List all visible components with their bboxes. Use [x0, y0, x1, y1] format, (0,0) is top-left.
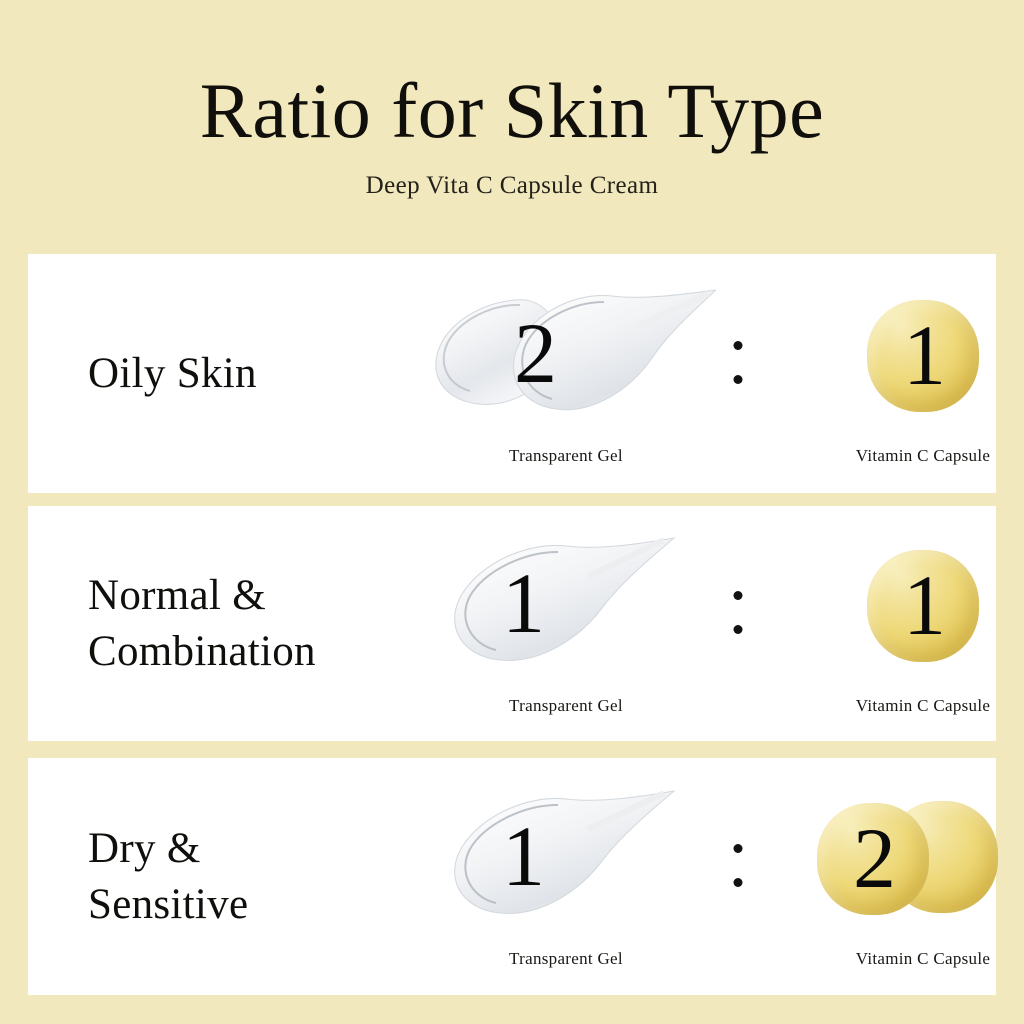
- gel-visual: 1: [416, 785, 716, 937]
- capsule-caption: Vitamin C Capsule: [856, 446, 990, 466]
- gel-side: 1 Transparent Gel: [416, 785, 716, 969]
- capsule-group-single: 1: [798, 532, 1024, 684]
- gel-ratio-value: 1: [502, 560, 545, 646]
- colon-dot-bottom: [734, 878, 743, 887]
- ratio-separator: [716, 285, 760, 437]
- capsule-side: 2 Vitamin C Capsule: [798, 785, 1024, 969]
- capsule-ratio-value: 2: [853, 815, 896, 901]
- gel-swatch-single: 1: [416, 532, 716, 684]
- colon-dot-bottom: [734, 375, 743, 384]
- capsule-group-single: 1: [798, 282, 1024, 434]
- ratio-row-dry-sensitive: Dry & Sensitive: [28, 758, 996, 995]
- colon-dot-bottom: [734, 625, 743, 634]
- gel-ratio-value: 1: [502, 813, 545, 899]
- gel-swatch-icon: [416, 785, 716, 937]
- ratio-group: 1 Transparent Gel 1 Vitamin C Capsule: [388, 506, 1024, 741]
- gel-ratio-value: 2: [514, 310, 557, 396]
- page-title: Ratio for Skin Type: [0, 72, 1024, 150]
- gel-visual: 2: [416, 282, 716, 434]
- skin-type-label-line1: Normal &: [88, 568, 388, 624]
- capsule-ratio-value: 1: [903, 562, 946, 648]
- gel-caption: Transparent Gel: [509, 949, 623, 969]
- capsule-caption: Vitamin C Capsule: [856, 696, 990, 716]
- page-header: Ratio for Skin Type Deep Vita C Capsule …: [0, 0, 1024, 200]
- capsule-side: 1 Vitamin C Capsule: [798, 532, 1024, 716]
- capsule-caption: Vitamin C Capsule: [856, 949, 990, 969]
- skin-type-label-line2: Combination: [88, 624, 388, 680]
- ratio-separator: [716, 535, 760, 687]
- ratio-group: 2 Transparent Gel 1 Vitamin C Capsule: [388, 254, 1024, 493]
- ratio-separator: [716, 788, 760, 940]
- gel-side: 1 Transparent Gel: [416, 532, 716, 716]
- gel-caption: Transparent Gel: [509, 696, 623, 716]
- capsule-side: 1 Vitamin C Capsule: [798, 282, 1024, 466]
- capsule-group-double: 2: [798, 785, 1024, 937]
- gel-swatch-double: 2: [416, 282, 716, 434]
- gel-side: 2 Transparent Gel: [416, 282, 716, 466]
- skin-type-label: Dry & Sensitive: [28, 821, 388, 933]
- capsule-visual: 1: [798, 532, 1024, 684]
- skin-type-label: Oily Skin: [28, 346, 388, 402]
- capsule-ratio-value: 1: [903, 312, 946, 398]
- gel-swatch-icon: [416, 532, 716, 684]
- page-subtitle: Deep Vita C Capsule Cream: [0, 172, 1024, 200]
- colon-dot-top: [734, 341, 743, 350]
- skin-type-label-line2: Sensitive: [88, 877, 388, 933]
- skin-type-label: Normal & Combination: [28, 568, 388, 680]
- colon-dot-top: [734, 844, 743, 853]
- ratio-row-normal-combination: Normal & Combination: [28, 506, 996, 741]
- gel-visual: 1: [416, 532, 716, 684]
- skin-type-label-line1: Dry &: [88, 821, 388, 877]
- gel-swatch-icon: [416, 282, 716, 434]
- ratio-card-list: Oily Skin: [28, 254, 996, 995]
- skin-type-label-line1: Oily Skin: [88, 346, 388, 402]
- ratio-row-oily-skin: Oily Skin: [28, 254, 996, 493]
- gel-swatch-single: 1: [416, 785, 716, 937]
- capsule-visual: 1: [798, 282, 1024, 434]
- colon-dot-top: [734, 591, 743, 600]
- ratio-group: 1 Transparent Gel 2 Vitamin C Capsule: [388, 758, 1024, 995]
- capsule-visual: 2: [798, 785, 1024, 937]
- gel-caption: Transparent Gel: [509, 446, 623, 466]
